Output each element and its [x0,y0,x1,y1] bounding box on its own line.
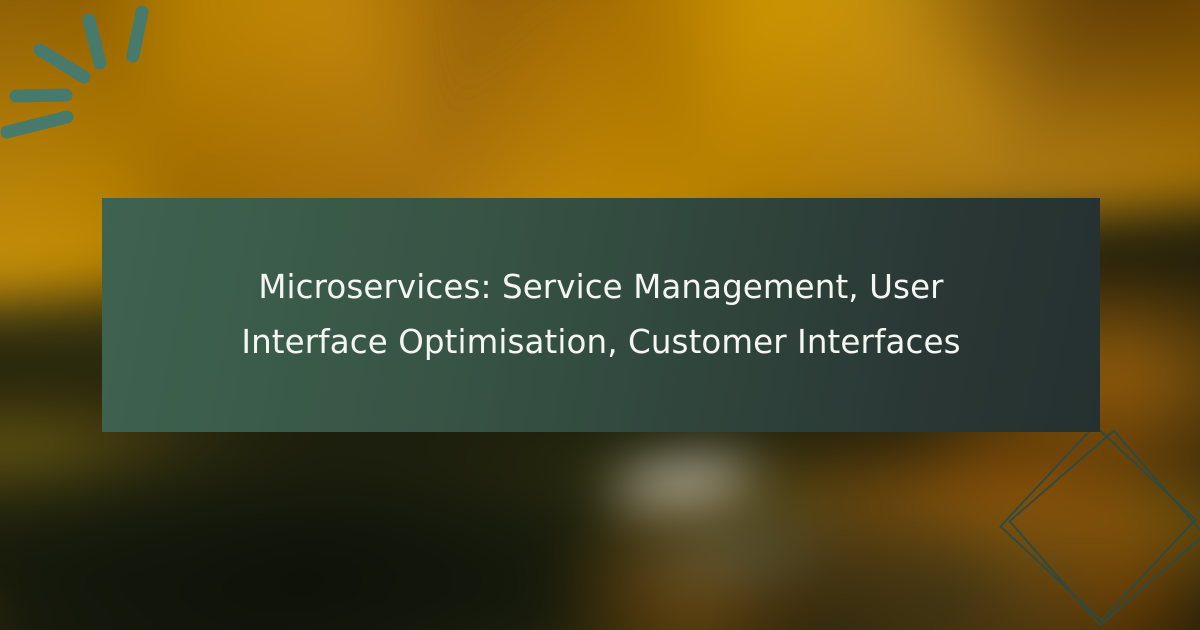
title-banner: Microservices: Service Management, User … [102,198,1100,432]
share-card-canvas: Microservices: Service Management, User … [0,0,1200,630]
page-title: Microservices: Service Management, User … [211,260,991,370]
title-banner-inner: Microservices: Service Management, User … [211,260,991,370]
